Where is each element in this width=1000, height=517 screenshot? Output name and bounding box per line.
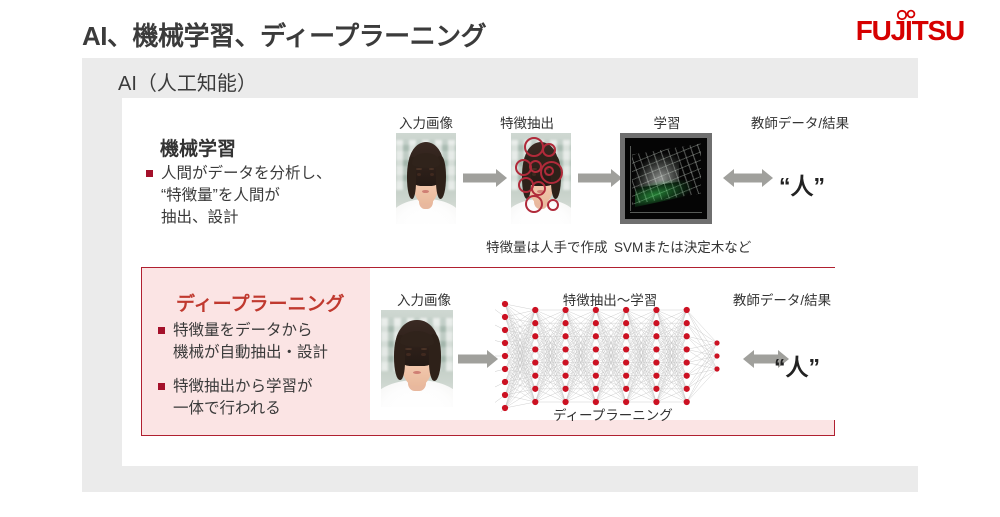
ml-column-label-result: 教師データ/結果 xyxy=(740,112,860,132)
fujitsu-loop-icon xyxy=(896,9,918,21)
ml-input-photo xyxy=(396,133,456,224)
list-item: 特徴量をデータから 機械が自動抽出・設計 xyxy=(158,320,358,364)
ml-feature-caption: 特徴量は人手で作成 xyxy=(486,236,608,256)
list-item: 人間がデータを分析し、 “特徴量”を人間が 抽出、設計 xyxy=(146,163,356,229)
ai-panel-label: AI（人工知能） xyxy=(118,67,257,96)
neural-network-svg xyxy=(495,300,735,412)
arrow-learning-to-result-icon xyxy=(723,169,773,187)
ml-feature-photo xyxy=(511,133,571,224)
arrow-input-to-network-icon xyxy=(458,350,498,368)
machine-learning-bullets: 人間がデータを分析し、 “特徴量”を人間が 抽出、設計 xyxy=(146,163,356,229)
ml-column-label-input: 入力画像 xyxy=(390,112,462,132)
fujitsu-logo: FUJITSU xyxy=(856,17,964,45)
machine-learning-heading: 機械学習 xyxy=(160,134,236,161)
ml-learning-caption: SVMまたは決定木など xyxy=(614,236,751,256)
deep-learning-heading: ディープラーニング xyxy=(176,289,345,316)
dl-input-photo xyxy=(381,310,453,407)
slide: AI、機械学習、ディープラーニング FUJITSU AI（人工知能） 機械学習 … xyxy=(0,0,1000,517)
dl-column-label-input: 入力画像 xyxy=(388,289,460,309)
list-item: 特徴抽出から学習が 一体で行われる xyxy=(158,376,358,420)
ml-result-word: “人” xyxy=(779,167,825,201)
dl-network-caption: ディープラーニング xyxy=(553,404,673,424)
deep-learning-bullets: 特徴量をデータから 機械が自動抽出・設計 特徴抽出から学習が 一体で行われる xyxy=(158,320,358,432)
arrow-input-to-feature-icon xyxy=(463,169,507,187)
page-title: AI、機械学習、ディープラーニング xyxy=(82,16,486,53)
neural-network-diagram xyxy=(495,300,735,412)
arrow-feature-to-learning-icon xyxy=(578,169,622,187)
dl-column-label-result: 教師データ/結果 xyxy=(722,289,842,309)
dl-result-word: “人” xyxy=(774,348,820,382)
ml-column-label-feature: 特徴抽出 xyxy=(489,112,565,132)
ml-column-label-learning: 学習 xyxy=(634,112,700,132)
ml-learning-plot-image xyxy=(620,133,712,224)
